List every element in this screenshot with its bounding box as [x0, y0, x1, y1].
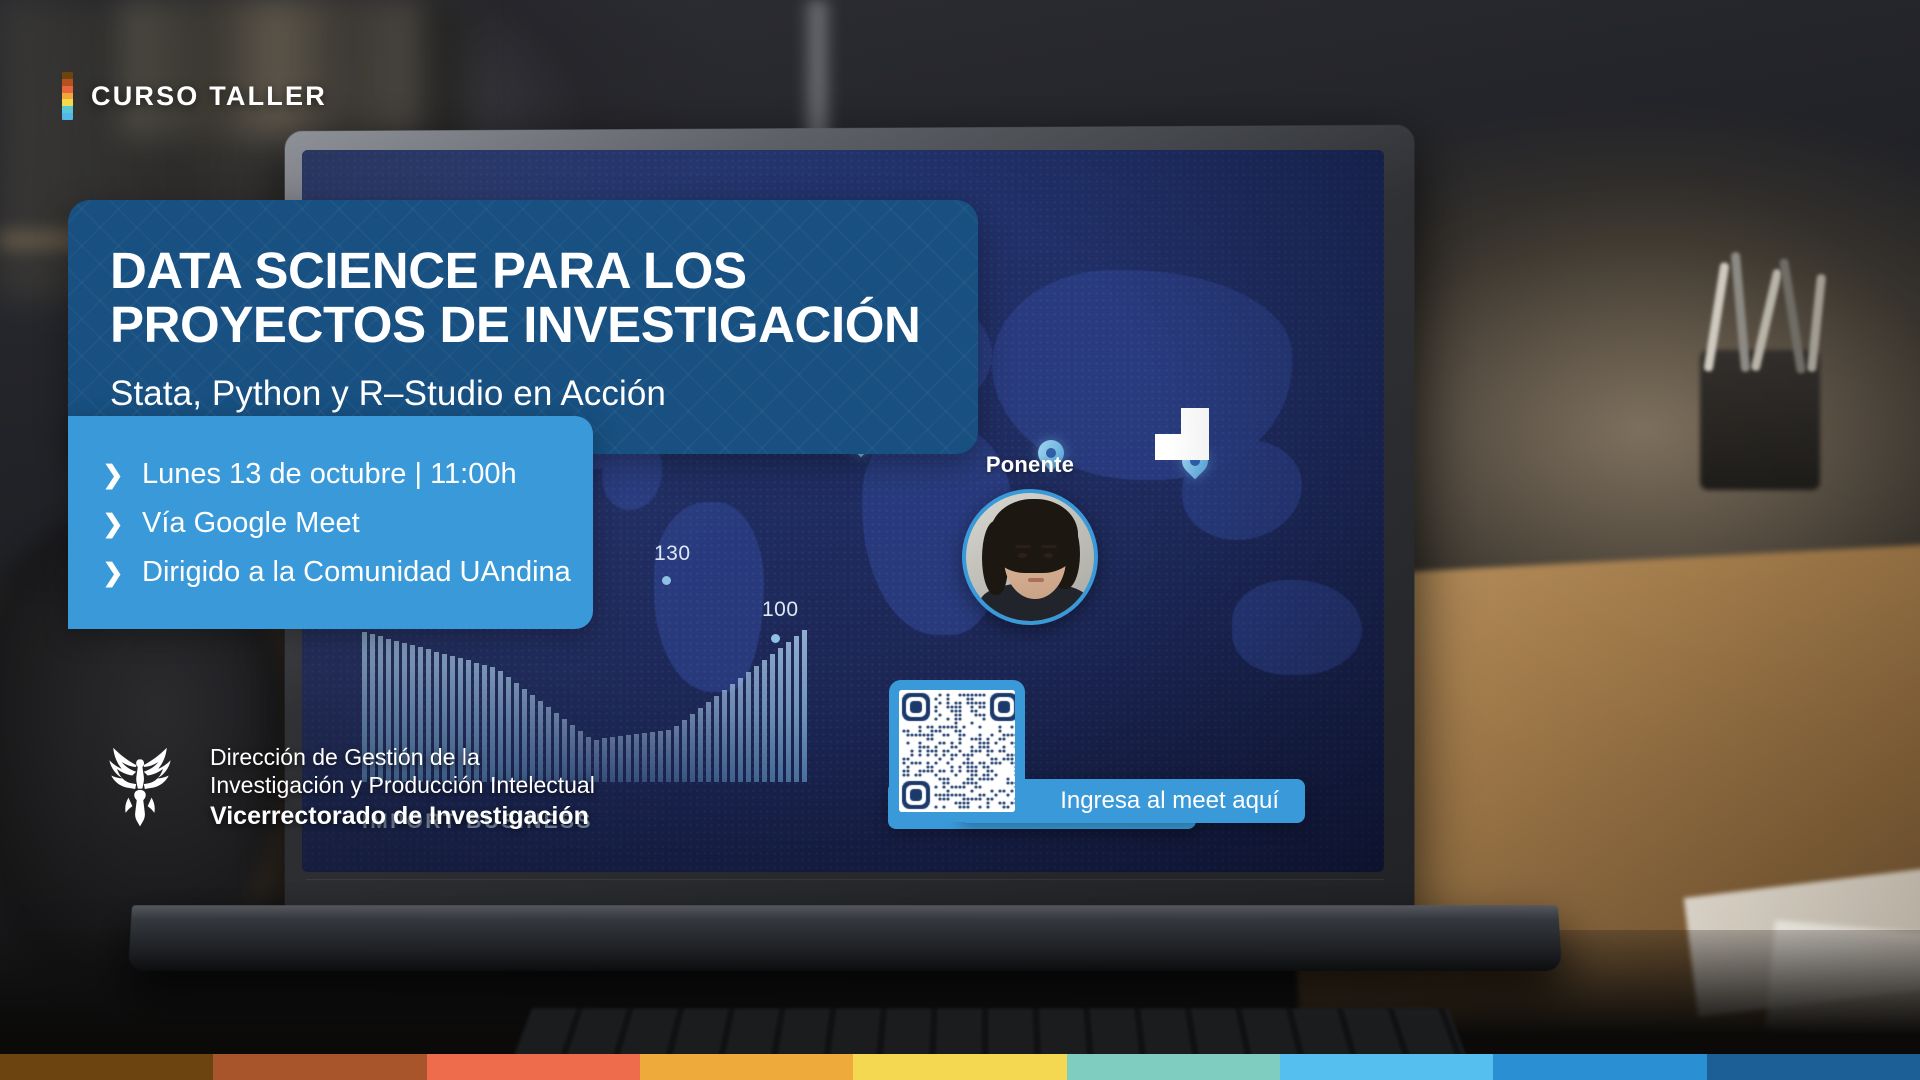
- list-item: ❯ Dirigido a la Comunidad UAndina: [102, 556, 563, 589]
- chevron-right-icon: ❯: [102, 461, 124, 489]
- qr-code-container[interactable]: [889, 680, 1025, 822]
- list-item: ❯ Lunes 13 de octubre | 11:00h: [102, 458, 563, 491]
- kicker-group: CURSO TALLER: [62, 72, 327, 120]
- page-subtitle: Stata, Python y R–Studio en Acción: [110, 374, 922, 414]
- footer-line-2: Investigación y Producción Intelectual: [210, 771, 595, 799]
- condor-logo: [92, 742, 188, 834]
- bottom-color-strip: [0, 1054, 1920, 1080]
- laptop-hinge: [306, 879, 1384, 880]
- avatar: [962, 489, 1098, 625]
- chevron-right-icon: ❯: [102, 510, 124, 538]
- poster-canvas: 130 100 IMPORT BUSINESS CURSO TALLER: [0, 0, 1920, 1080]
- event-details-panel: ❯ Lunes 13 de octubre | 11:00h ❯ Vía Goo…: [68, 416, 593, 629]
- gradient-accent-bar: [62, 72, 73, 120]
- detail-date: Lunes 13 de octubre | 11:00h: [142, 458, 517, 491]
- footer: Dirección de Gestión de la Investigación…: [92, 742, 595, 834]
- footer-line-1: Dirección de Gestión de la: [210, 743, 595, 771]
- speaker-label: Ponente: [960, 452, 1100, 478]
- detail-audience: Dirigido a la Comunidad UAndina: [142, 556, 571, 589]
- kicker-label: CURSO TALLER: [91, 81, 327, 112]
- footer-line-3: Vicerrectorado de Investigación: [210, 801, 595, 832]
- detail-platform: Vía Google Meet: [142, 507, 360, 540]
- list-item: ❯ Vía Google Meet: [102, 507, 563, 540]
- chevron-right-icon: ❯: [102, 559, 124, 587]
- page-title: DATA SCIENCE PARA LOS PROYECTOS DE INVES…: [110, 244, 922, 352]
- laptop-base: [128, 905, 1562, 971]
- qr-code-icon[interactable]: [899, 690, 1015, 812]
